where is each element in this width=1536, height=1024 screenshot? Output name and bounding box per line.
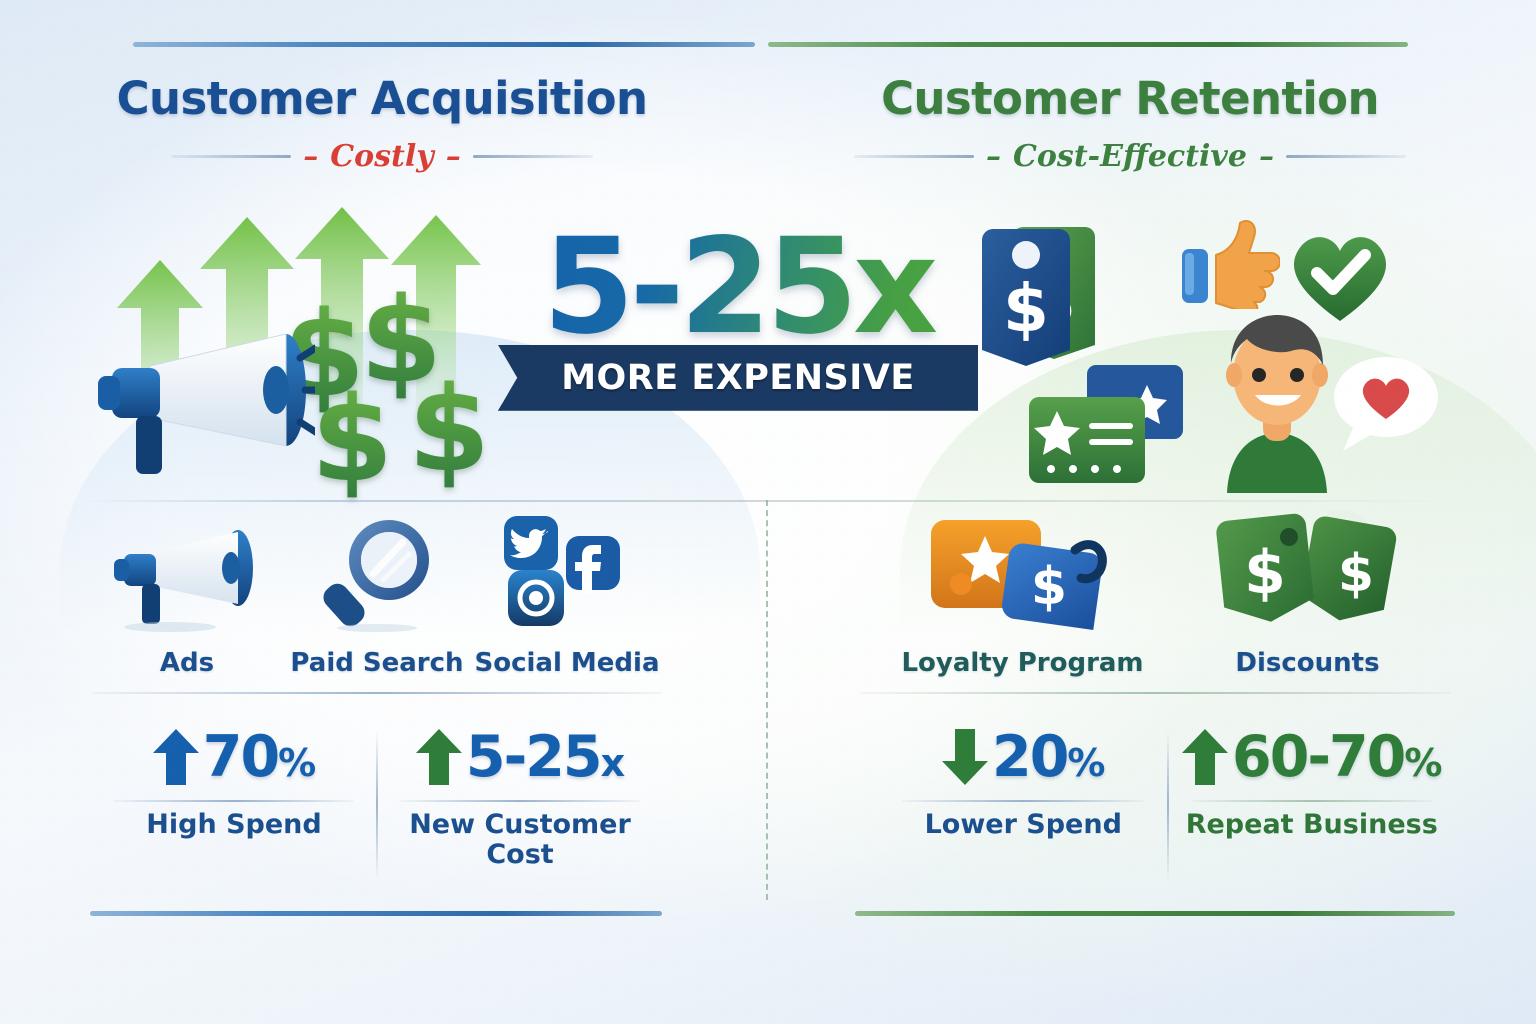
acquisition-header: Customer Acquisition – Costly – (92, 72, 672, 174)
center-dashed-divider (766, 500, 768, 900)
speech-bubble-heart-icon (1331, 353, 1441, 458)
acquisition-subtitle-row: – Costly – (92, 139, 672, 174)
stat-repeat-business: 60-70% Repeat Business (1169, 724, 1456, 840)
megaphone-icon (112, 528, 262, 632)
acquisition-stats: 70% High Spend 5-25x New Customer Cost (92, 724, 662, 880)
acquisition-dash-left: – (303, 139, 318, 174)
dollar-sign-icon: $ (408, 360, 490, 498)
twitter-icon (504, 516, 558, 570)
stat-value-row: 60-70% (1182, 724, 1441, 790)
retention-subtitle: Cost-Effective (1013, 139, 1247, 174)
acquisition-channels: Ads Paid Search (92, 512, 662, 678)
more-expensive-ribbon: MORE EXPENSIVE (498, 345, 978, 411)
facebook-icon (566, 536, 620, 593)
arrow-up-icon (153, 729, 199, 785)
heart-check-icon (1285, 225, 1395, 325)
subtitle-line-left (171, 155, 291, 158)
left-channel-separator (92, 692, 662, 694)
stat-underline (902, 800, 1144, 802)
stat-value: 70% (203, 729, 315, 786)
multiplier-value: 5-25x (498, 224, 978, 351)
retention-dash-right: – (1259, 139, 1274, 174)
top-rule-left (133, 42, 755, 47)
svg-text:$: $ (1244, 538, 1286, 608)
ribbon-label: MORE EXPENSIVE (561, 358, 915, 398)
loyalty-card-icon (1027, 395, 1147, 485)
channel-loyalty-program[interactable]: $ Loyalty Program (898, 512, 1148, 678)
channel-label: Ads (160, 648, 214, 678)
svg-text:$: $ (1030, 557, 1066, 617)
acquisition-subtitle: Costly (330, 139, 433, 174)
arrow-down-icon (942, 729, 988, 785)
stat-value: 5-25x (466, 729, 624, 786)
hero-separator (80, 500, 1460, 502)
retention-hero-illustration: $ $ (985, 205, 1435, 500)
subtitle-line-left (854, 155, 974, 158)
stat-value: 60-70% (1232, 729, 1441, 786)
subtitle-line-right (473, 155, 593, 158)
retention-stats: 20% Lower Spend 60-70% Repeat Business (880, 724, 1455, 880)
svg-text:$: $ (1003, 270, 1049, 347)
stat-new-customer-cost: 5-25x New Customer Cost (378, 724, 662, 870)
megaphone-icon (90, 330, 315, 485)
retention-title: Customer Retention (840, 72, 1420, 125)
channel-paid-search[interactable]: Paid Search (287, 512, 467, 678)
arrow-up-icon (1182, 729, 1228, 785)
stat-label: Repeat Business (1186, 810, 1438, 840)
infographic-canvas: Customer Acquisition – Costly – Customer… (0, 0, 1536, 1024)
channel-art (477, 512, 657, 632)
stat-underline (400, 800, 639, 802)
bottom-rule-right (855, 911, 1455, 916)
stat-underline (114, 800, 353, 802)
top-rule-right (768, 42, 1408, 47)
stat-label: High Spend (146, 810, 321, 840)
acquisition-title: Customer Acquisition (92, 72, 672, 125)
price-tag-icon: $ (967, 219, 1097, 374)
channel-art: $ (898, 512, 1148, 632)
instagram-icon (508, 570, 564, 626)
stat-high-spend: 70% High Spend (92, 724, 376, 840)
channel-ads[interactable]: Ads (97, 512, 277, 678)
stat-value: 20% (992, 729, 1104, 786)
channel-art (287, 512, 467, 632)
stat-label: New Customer Cost (384, 810, 656, 870)
stat-value-row: 20% (942, 724, 1104, 790)
thumbs-up-icon (1180, 219, 1280, 309)
channel-art: $ $ (1183, 512, 1433, 632)
bottom-rule-left (90, 911, 662, 916)
channel-label: Social Media (475, 648, 660, 678)
arrow-up-icon (416, 729, 462, 785)
retention-subtitle-row: – Cost-Effective – (840, 139, 1420, 174)
channel-label: Paid Search (290, 648, 463, 678)
stat-label: Lower Spend (925, 810, 1122, 840)
magnifying-glass-icon (317, 520, 437, 632)
channel-art (97, 512, 277, 632)
acquisition-dash-right: – (446, 139, 461, 174)
cost-comparison-badge: 5-25x MORE EXPENSIVE (498, 224, 978, 411)
channel-label: Discounts (1235, 648, 1379, 678)
retention-header: Customer Retention – Cost-Effective – (840, 72, 1420, 174)
stat-lower-spend: 20% Lower Spend (880, 724, 1167, 840)
customer-avatar-icon (1207, 313, 1347, 503)
discount-tags-icon: $ $ (1213, 507, 1403, 632)
social-media-icons (502, 514, 632, 632)
subtitle-line-right (1286, 155, 1406, 158)
stat-value-row: 5-25x (416, 724, 624, 790)
retention-dash-left: – (986, 139, 1001, 174)
retention-channels: $ Loyalty Program $ $ (880, 512, 1450, 678)
acquisition-hero-illustration: $ $ $ $ (95, 205, 525, 495)
channel-social-media[interactable]: Social Media (477, 512, 657, 678)
channel-label: Loyalty Program (901, 648, 1143, 678)
stat-underline (1191, 800, 1433, 802)
svg-text:$: $ (1337, 544, 1373, 604)
right-channel-separator (860, 692, 1450, 694)
stat-value-row: 70% (153, 724, 315, 790)
dollar-sign-icon: $ (311, 370, 393, 508)
channel-discounts[interactable]: $ $ Discounts (1183, 512, 1433, 678)
loyalty-card-tag-icon: $ (923, 510, 1123, 632)
